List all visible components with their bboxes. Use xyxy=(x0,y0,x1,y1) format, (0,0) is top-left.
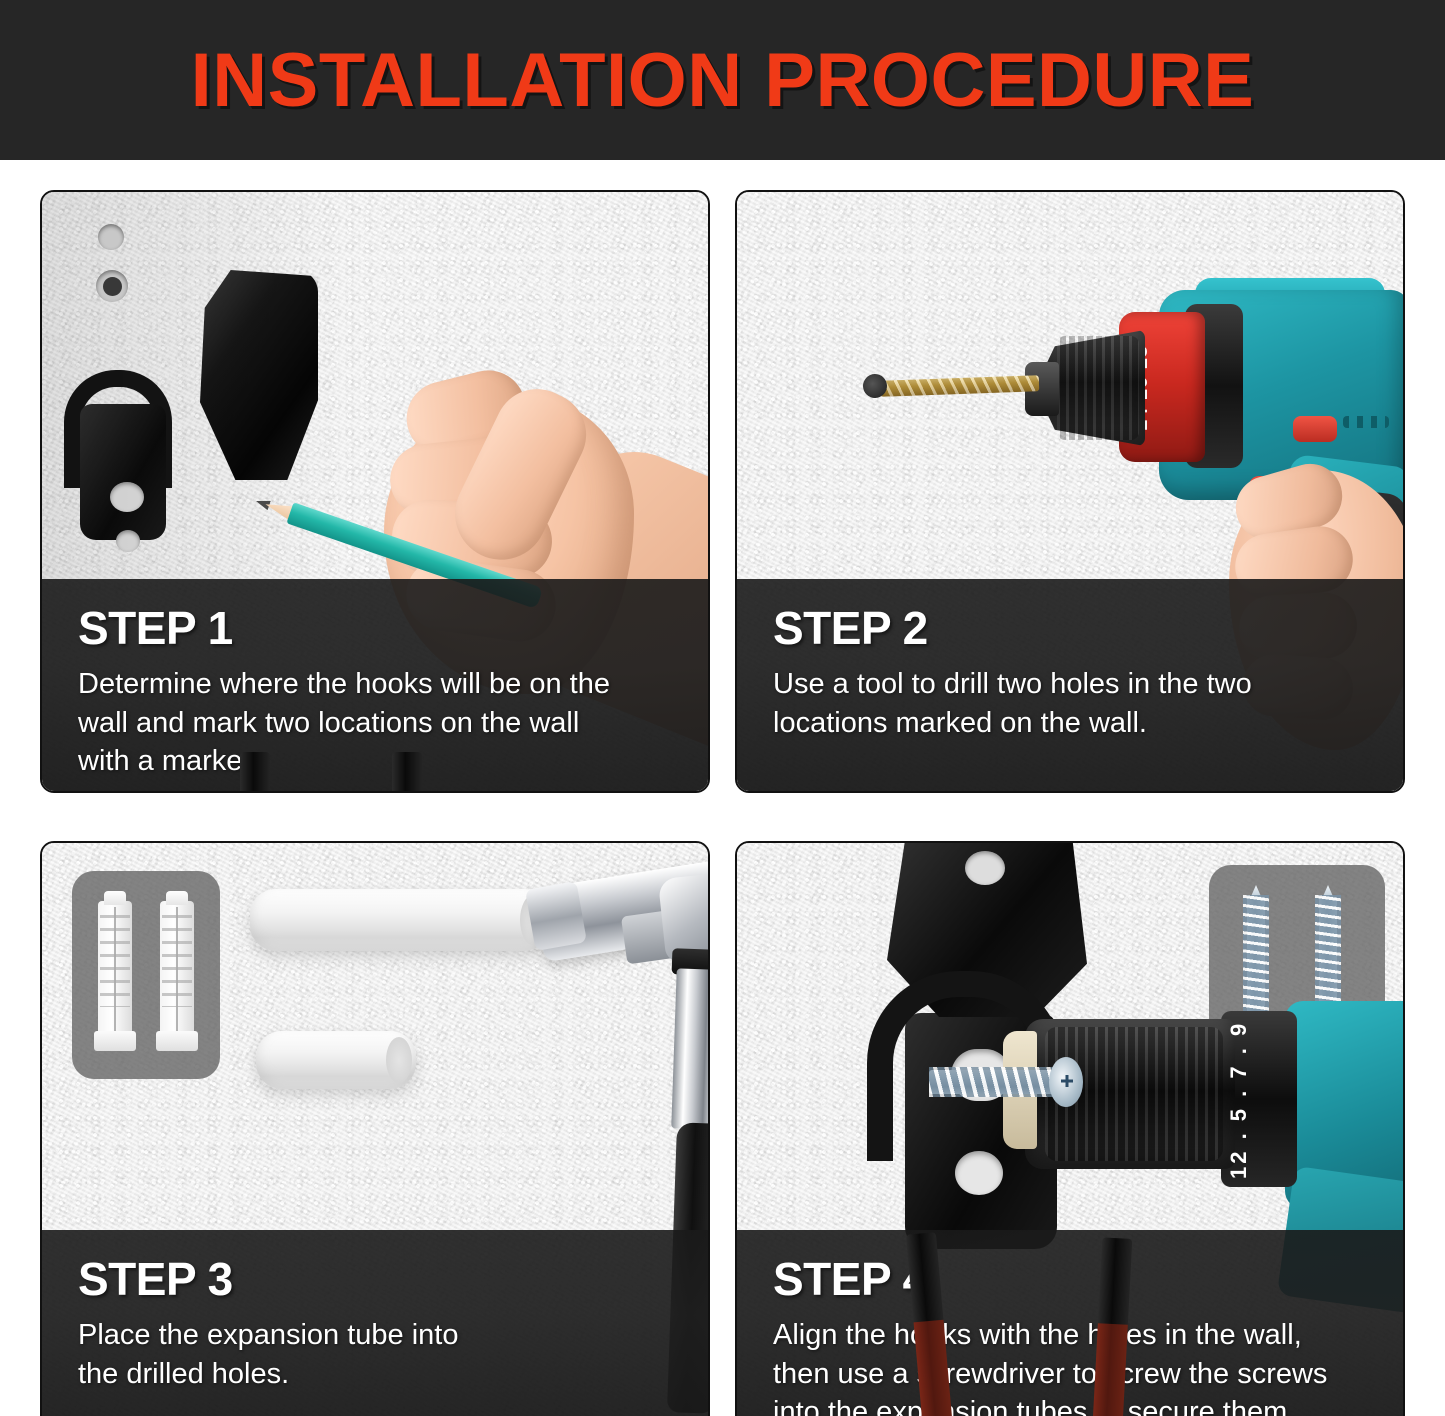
steps-grid: STEP 1 Determine where the hooks will be… xyxy=(0,160,1445,1416)
hook-handle-right xyxy=(392,752,422,793)
step-caption-2: STEP 2 Use a tool to drill two holes in … xyxy=(737,579,1403,791)
pencil-mark-icon xyxy=(103,277,122,296)
step-description-3: Place the expansion tube into the drille… xyxy=(78,1316,674,1393)
step-title-4: STEP 4 xyxy=(773,1256,1369,1302)
expansion-tube-small-icon xyxy=(256,1031,416,1089)
step-caption-1: STEP 1 Determine where the hooks will be… xyxy=(42,579,708,791)
wall-anchors-inset-panel xyxy=(72,871,220,1079)
step-title-3: STEP 3 xyxy=(78,1256,674,1302)
step-title-1: STEP 1 xyxy=(78,605,674,651)
step-caption-3: STEP 3 Place the expansion tube into the… xyxy=(42,1230,708,1416)
bracket-hole-lower-small-icon xyxy=(116,530,140,552)
step-description-2: Use a tool to drill two holes in the two… xyxy=(773,665,1369,742)
step-caption-4: STEP 4 Align the hooks with the holes in… xyxy=(737,1230,1403,1416)
expansion-tube-large-icon xyxy=(250,889,550,951)
hook-bracket-icon xyxy=(194,270,326,580)
step-title-2: STEP 2 xyxy=(773,605,1369,651)
bracket-hole-lower-large-icon xyxy=(110,482,144,512)
step-card-3[interactable]: STEP 3 Place the expansion tube into the… xyxy=(40,841,710,1416)
header-banner: INSTALLATION PROCEDURE xyxy=(0,0,1445,160)
wall-anchor-icon xyxy=(98,901,132,1051)
drill-chuck-numbers: 12 . 5 . 7 . 9 xyxy=(1227,1019,1291,1181)
step-description-1: Determine where the hooks will be on the… xyxy=(78,665,674,781)
wall-anchor-icon xyxy=(160,901,194,1051)
step-description-4: Align the hooks with the holes in the wa… xyxy=(773,1316,1369,1416)
bracket-hole-top-icon xyxy=(965,851,1005,885)
step-card-1[interactable]: STEP 1 Determine where the hooks will be… xyxy=(40,190,710,793)
screw-being-driven-icon xyxy=(929,1065,1101,1099)
bracket-hole-upper-icon xyxy=(98,224,124,250)
hook-handle-left xyxy=(240,752,270,793)
step-card-2[interactable]: 14 16 18 STEP 2 Use a tool to drill two … xyxy=(735,190,1405,793)
step-card-4[interactable]: 12 . 5 . 7 . 9 STEP 4 Align the hooks wi… xyxy=(735,841,1405,1416)
page-title: INSTALLATION PROCEDURE xyxy=(191,37,1255,124)
